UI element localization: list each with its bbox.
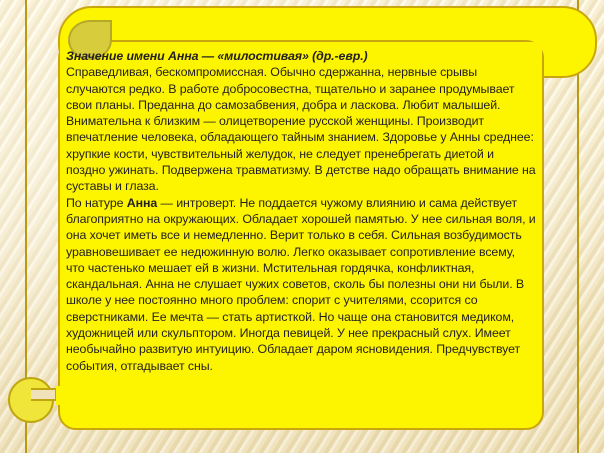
lead-line: Значение имени Анна — «милостивая» (др.-… bbox=[66, 48, 536, 64]
circle-notch-mask bbox=[56, 386, 62, 405]
paragraph-3: По натуре Анна — интроверт. Не поддается… bbox=[66, 195, 536, 374]
paragraph-3-rest: — интроверт. Не поддается чужому влиянию… bbox=[66, 196, 536, 373]
paragraph-3-prefix: По натуре bbox=[66, 196, 127, 210]
paragraph-2: Внимательна к близким — олицетворение ру… bbox=[66, 113, 536, 194]
circle-notch-cutout bbox=[31, 388, 57, 401]
slide-canvas: Значение имени Анна — «милостивая» (др.-… bbox=[0, 0, 604, 453]
slide-text-body: Значение имени Анна — «милостивая» (др.-… bbox=[66, 48, 536, 374]
paragraph-1: Справедливая, бескомпромиссная. Обычно с… bbox=[66, 64, 536, 113]
name-anna-bold: Анна bbox=[127, 196, 157, 210]
